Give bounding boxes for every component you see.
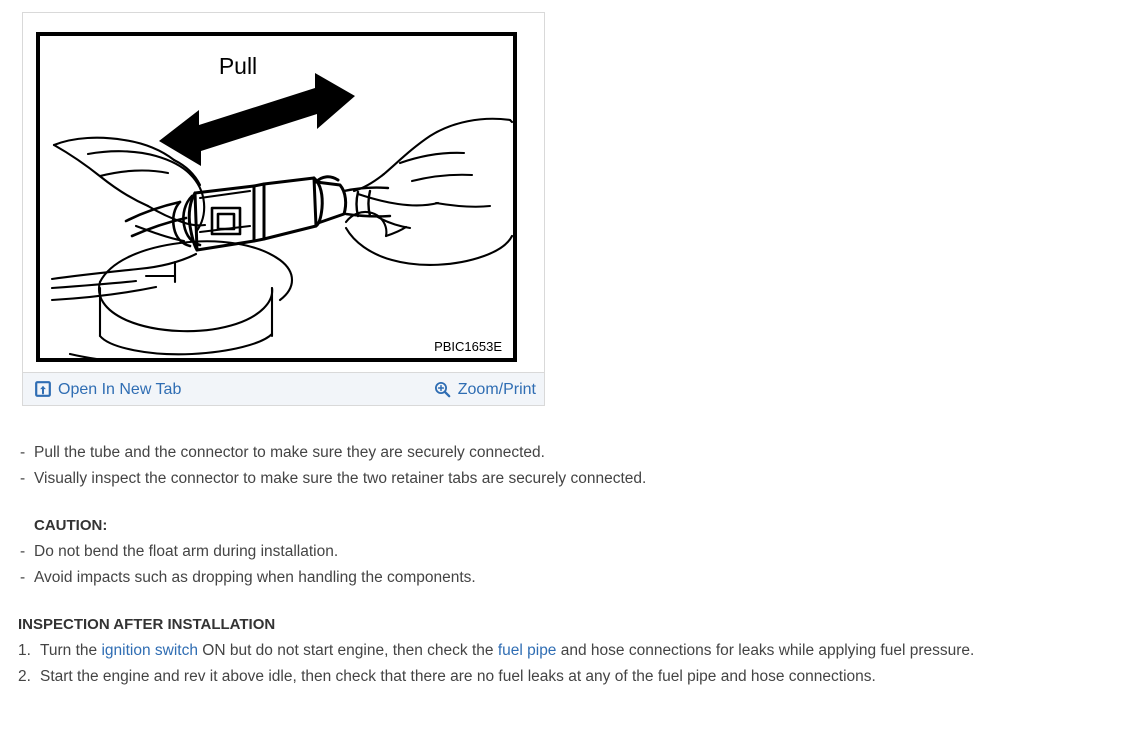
list-item: - Visually inspect the connector to make… <box>0 466 1141 492</box>
figure-panel: Pull PBIC1653E Open In New Tab <box>22 12 545 406</box>
list-bullet: - <box>20 466 25 492</box>
figure-frame: Pull PBIC1653E <box>36 32 517 362</box>
list-item-text: Avoid impacts such as dropping when hand… <box>34 569 476 586</box>
caution-label: CAUTION: <box>0 513 1141 539</box>
zoom-print-button[interactable]: Zoom/Print <box>434 381 536 398</box>
list-bullet: - <box>20 440 25 466</box>
open-in-new-tab-label: Open In New Tab <box>58 382 181 398</box>
step-text-part2: ON but do not start engine, then check t… <box>198 642 498 659</box>
list-number: 1. <box>18 638 31 664</box>
pull-arrow-icon <box>159 73 355 166</box>
spacer <box>0 492 1141 513</box>
step-text-part1: Start the engine and rev it above idle, … <box>40 668 876 685</box>
open-in-new-tab-button[interactable]: Open In New Tab <box>35 381 181 397</box>
list-item: 1. Turn the ignition switch ON but do no… <box>0 638 1141 664</box>
list-item: 2. Start the engine and rev it above idl… <box>0 664 1141 690</box>
inspection-steps-list: 1. Turn the ignition switch ON but do no… <box>0 638 1141 690</box>
pull-label: Pull <box>219 53 257 79</box>
list-item: - Do not bend the float arm during insta… <box>0 539 1141 565</box>
fuel-pipe-link[interactable]: fuel pipe <box>498 642 557 659</box>
list-item: - Pull the tube and the connector to mak… <box>0 440 1141 466</box>
spacer <box>0 591 1141 612</box>
figure-toolbar: Open In New Tab Zoom/Print <box>23 372 544 405</box>
ignition-switch-link[interactable]: ignition switch <box>101 642 198 659</box>
list-bullet: - <box>20 539 25 565</box>
step-text-part3: and hose connections for leaks while app… <box>556 642 974 659</box>
caution-list: - Do not bend the float arm during insta… <box>0 539 1141 591</box>
list-bullet: - <box>20 565 25 591</box>
figure-illustration: Pull PBIC1653E <box>40 36 513 358</box>
list-item-text: Pull the tube and the connector to make … <box>34 444 545 461</box>
connection-check-list: - Pull the tube and the connector to mak… <box>0 440 1141 492</box>
list-item-text: Visually inspect the connector to make s… <box>34 470 646 487</box>
list-number: 2. <box>18 664 31 690</box>
list-item-text: Do not bend the float arm during install… <box>34 543 338 560</box>
open-in-new-tab-icon <box>35 381 51 397</box>
section-heading: INSPECTION AFTER INSTALLATION <box>0 612 1141 638</box>
magnifier-plus-icon <box>434 381 451 398</box>
list-item: - Avoid impacts such as dropping when ha… <box>0 565 1141 591</box>
figure-image-area: Pull PBIC1653E <box>23 13 544 372</box>
instruction-content: - Pull the tube and the connector to mak… <box>0 440 1141 690</box>
figure-code: PBIC1653E <box>434 339 502 354</box>
zoom-print-label: Zoom/Print <box>458 382 536 398</box>
step-text-part1: Turn the <box>40 642 101 659</box>
